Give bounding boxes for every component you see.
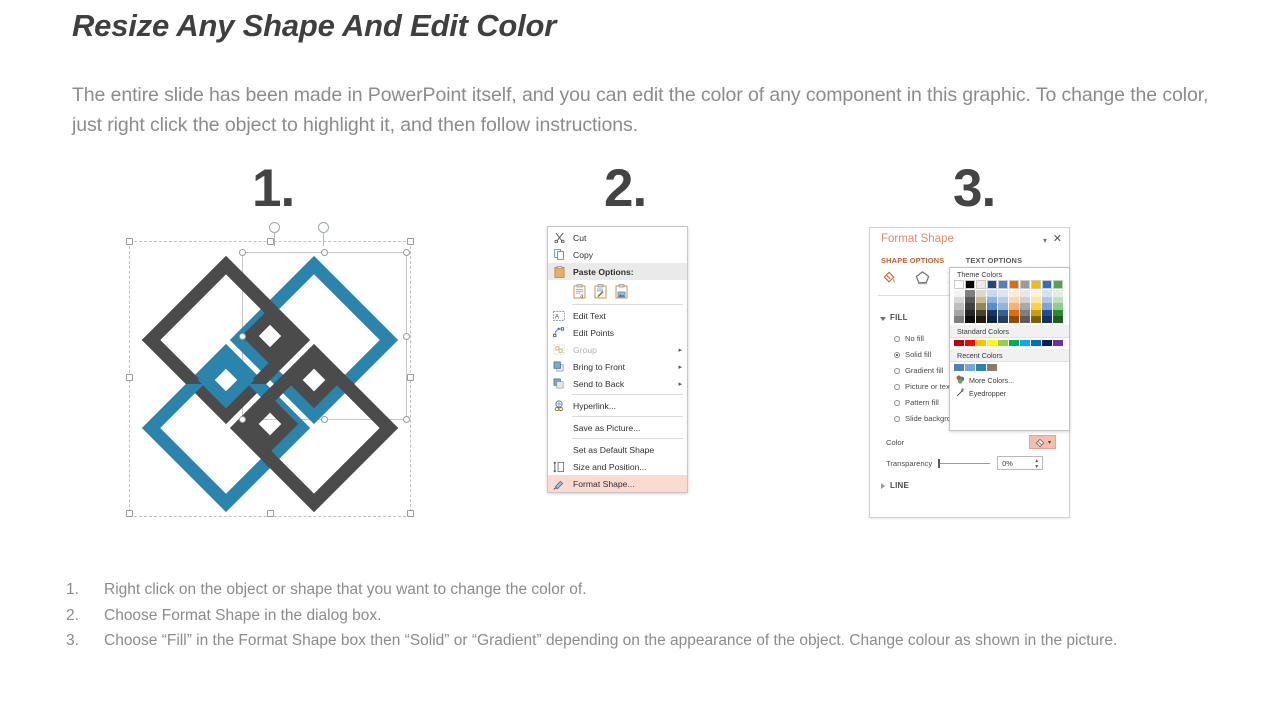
- menu-item-save-as-picture[interactable]: Save as Picture...: [548, 419, 687, 436]
- send-back-icon: [551, 377, 567, 390]
- color-swatch[interactable]: [954, 280, 964, 289]
- format-shape-icon: [551, 477, 567, 490]
- color-swatch[interactable]: [965, 316, 975, 323]
- standard-colors-row[interactable]: [950, 340, 1069, 347]
- instruction-item: 2. Choose Format Shape in the dialog box…: [66, 603, 1276, 629]
- menu-item-label: Bring to Front: [573, 362, 678, 372]
- color-swatch[interactable]: [965, 364, 975, 371]
- radio-gradient-fill[interactable]: Gradient fill: [894, 366, 943, 375]
- step-number-1: 1.: [252, 158, 294, 219]
- resize-handle-inner-tl[interactable]: [239, 249, 246, 256]
- bring-front-icon: [551, 360, 567, 373]
- menu-item-format-shape[interactable]: Format Shape...: [548, 475, 687, 492]
- instruction-text: Choose Format Shape in the dialog box.: [104, 603, 1276, 629]
- color-swatch[interactable]: [1042, 280, 1052, 289]
- resize-handle-inner-ml[interactable]: [239, 333, 246, 340]
- eyedropper-icon: [956, 388, 965, 399]
- svg-text:A: A: [555, 313, 560, 320]
- color-swatch[interactable]: [998, 280, 1008, 289]
- more-colors-label: More Colors...: [969, 376, 1014, 385]
- menu-item-hyperlink[interactable]: Hyperlink...: [548, 397, 687, 414]
- color-swatch[interactable]: [976, 280, 986, 289]
- radio-indicator: [894, 352, 900, 358]
- color-swatch[interactable]: [954, 364, 964, 371]
- color-swatch[interactable]: [1042, 316, 1052, 323]
- menu-separator: [572, 438, 683, 439]
- hyperlink-icon: [551, 399, 567, 412]
- color-swatch[interactable]: [1042, 340, 1052, 347]
- intro-paragraph: The entire slide has been made in PowerP…: [72, 80, 1217, 140]
- radio-label: Solid fill: [905, 350, 931, 359]
- resize-handle-outer-tc[interactable]: [267, 238, 274, 245]
- color-swatch[interactable]: [987, 316, 997, 323]
- copy-icon: [551, 248, 567, 261]
- instruction-item: 1. Right click on the object or shape th…: [66, 577, 1276, 603]
- rotation-handle-right[interactable]: [318, 222, 329, 233]
- menu-item-cut[interactable]: Cut: [548, 229, 687, 246]
- menu-separator: [572, 394, 683, 395]
- radio-label: Pattern fill: [905, 398, 939, 407]
- menu-item-label: Group: [573, 345, 678, 355]
- color-swatch[interactable]: [987, 280, 997, 289]
- dialog-tabs[interactable]: SHAPE OPTIONS TEXT OPTIONS: [881, 256, 1022, 265]
- rotation-stem-left: [274, 233, 275, 246]
- dialog-titlebar: Format Shape ▾ ✕: [870, 228, 1069, 254]
- menu-item-label: Format Shape...: [573, 479, 687, 489]
- color-swatch[interactable]: [1009, 340, 1019, 347]
- radio-indicator: [894, 336, 900, 342]
- radio-pattern-fill[interactable]: Pattern fill: [894, 398, 939, 407]
- menu-item-edit-points[interactable]: Edit Points: [548, 324, 687, 341]
- menu-item-label: Save as Picture...: [573, 423, 687, 433]
- resize-handle-inner-bc[interactable]: [321, 416, 328, 423]
- resize-handle-inner-bl[interactable]: [239, 416, 246, 423]
- resize-handle-outer-bl[interactable]: [126, 510, 133, 517]
- theme-colors-top-row[interactable]: [950, 280, 1069, 289]
- color-swatch[interactable]: [998, 340, 1008, 347]
- more-colors-icon: [956, 375, 965, 386]
- resize-handle-outer-br[interactable]: [407, 510, 414, 517]
- svg-text:a: a: [580, 293, 583, 299]
- menu-item-group[interactable]: Group ▸: [548, 341, 687, 358]
- context-menu[interactable]: Cut Copy Paste Options: a A Edit Text: [547, 226, 688, 493]
- more-colors-item[interactable]: More Colors...: [950, 374, 1069, 387]
- standard-colors-heading: Standard Colors: [950, 325, 1069, 338]
- radio-label: No fill: [905, 334, 924, 343]
- page-title: Resize Any Shape And Edit Color: [72, 8, 556, 44]
- paint-bucket-icon: [1034, 437, 1046, 448]
- color-row[interactable]: Color ▾: [886, 435, 1056, 449]
- color-dropdown-button[interactable]: ▾: [1029, 435, 1056, 449]
- tab-text-options[interactable]: TEXT OPTIONS: [966, 256, 1023, 265]
- fill-bucket-icon[interactable]: [881, 270, 898, 288]
- size-position-icon: [551, 460, 567, 473]
- color-swatch[interactable]: [976, 316, 986, 323]
- close-icon[interactable]: ✕: [1053, 232, 1062, 245]
- menu-item-edit-text[interactable]: A Edit Text: [548, 307, 687, 324]
- paste-picture-icon[interactable]: [615, 284, 628, 299]
- theme-tint-row[interactable]: [950, 316, 1069, 323]
- menu-item-copy[interactable]: Copy: [548, 246, 687, 263]
- color-swatch[interactable]: [1009, 316, 1019, 323]
- paste-icon: [551, 265, 567, 278]
- color-picker-flyout[interactable]: Theme Colors Standard Colors Recent Colo…: [949, 267, 1070, 431]
- color-swatch[interactable]: [998, 316, 1008, 323]
- menu-item-label: Size and Position...: [573, 462, 687, 472]
- resize-handle-outer-tr[interactable]: [407, 238, 414, 245]
- color-label: Color: [886, 438, 904, 447]
- color-swatch[interactable]: [954, 316, 964, 323]
- paste-keep-source-icon[interactable]: a: [573, 284, 586, 299]
- interlocking-diamonds-icon: [126, 238, 414, 520]
- menu-item-label: Set as Default Shape: [573, 445, 687, 455]
- color-swatch[interactable]: [954, 340, 964, 347]
- effects-pentagon-icon[interactable]: [914, 270, 931, 288]
- recent-colors-heading: Recent Colors: [950, 349, 1069, 362]
- radio-indicator: [894, 416, 900, 422]
- instruction-text: Choose “Fill” in the Format Shape box th…: [104, 628, 1276, 654]
- tab-shape-options[interactable]: SHAPE OPTIONS: [881, 256, 944, 265]
- transparency-value: 0%: [1002, 459, 1013, 468]
- shape-graphic-panel[interactable]: [126, 238, 414, 520]
- instruction-number: 3.: [66, 628, 104, 654]
- menu-item-send-to-back[interactable]: Send to Back ▸: [548, 375, 687, 392]
- color-swatch[interactable]: [1020, 280, 1030, 289]
- menu-item-label: Cut: [573, 233, 687, 243]
- chevron-right-icon: ▸: [678, 346, 682, 354]
- color-swatch[interactable]: [1053, 340, 1063, 347]
- color-swatch[interactable]: [976, 340, 986, 347]
- edit-text-icon: A: [551, 309, 567, 322]
- chevron-down-icon[interactable]: ▾: [1043, 236, 1047, 245]
- color-swatch[interactable]: [1020, 316, 1030, 323]
- color-swatch[interactable]: [1031, 316, 1041, 323]
- line-section-title: LINE: [890, 481, 909, 490]
- spinner-icon[interactable]: ▲▼: [1034, 458, 1039, 470]
- menu-item-label: Edit Text: [573, 311, 687, 321]
- menu-item-bring-to-front[interactable]: Bring to Front ▸: [548, 358, 687, 375]
- radio-solid-fill[interactable]: Solid fill: [894, 350, 931, 359]
- instructions-list: 1. Right click on the object or shape th…: [66, 577, 1276, 654]
- resize-handle-inner-tc[interactable]: [321, 249, 328, 256]
- no-icon: [551, 443, 567, 456]
- color-swatch[interactable]: [965, 280, 975, 289]
- menu-item-set-default-shape[interactable]: Set as Default Shape: [548, 441, 687, 458]
- eyedropper-item[interactable]: Eyedropper: [950, 387, 1069, 400]
- no-icon: [551, 421, 567, 434]
- recent-colors-row[interactable]: [950, 364, 1069, 371]
- transparency-row[interactable]: Transparency 0% ▲▼: [886, 456, 1060, 470]
- fill-section-title: FILL: [890, 313, 908, 322]
- paste-options-row[interactable]: a: [548, 280, 687, 302]
- color-swatch[interactable]: [1053, 316, 1063, 323]
- menu-item-label: Edit Points: [573, 328, 687, 338]
- rotation-handle-left[interactable]: [269, 222, 280, 233]
- chevron-down-icon[interactable]: ▾: [1048, 439, 1051, 446]
- paste-theme-icon[interactable]: [594, 284, 607, 299]
- rotation-stem-right: [323, 233, 324, 246]
- theme-colors-heading: Theme Colors: [950, 268, 1069, 280]
- resize-handle-inner-mr[interactable]: [403, 333, 410, 340]
- radio-label: Gradient fill: [905, 366, 943, 375]
- transparency-slider[interactable]: [938, 463, 990, 464]
- menu-item-label: Paste Options:: [573, 267, 687, 277]
- edit-points-icon: [551, 326, 567, 339]
- resize-handle-outer-ml[interactable]: [126, 374, 133, 381]
- radio-indicator: [894, 384, 900, 390]
- color-swatch[interactable]: [1053, 280, 1063, 289]
- menu-item-label: Hyperlink...: [573, 401, 687, 411]
- resize-handle-outer-bc[interactable]: [267, 510, 274, 517]
- chevron-right-icon: ▸: [678, 363, 682, 371]
- color-swatch[interactable]: [1020, 340, 1030, 347]
- step-number-3: 3.: [953, 158, 995, 219]
- instruction-number: 2.: [66, 603, 104, 629]
- color-swatch[interactable]: [1031, 280, 1041, 289]
- line-expand-triangle-icon[interactable]: [881, 483, 885, 489]
- fill-expand-triangle-icon[interactable]: [880, 317, 886, 321]
- resize-handle-inner-tr[interactable]: [403, 249, 410, 256]
- instruction-number: 1.: [66, 577, 104, 603]
- menu-item-label: Send to Back: [573, 379, 678, 389]
- resize-handle-inner-br[interactable]: [403, 416, 410, 423]
- menu-separator: [572, 304, 683, 305]
- instruction-text: Right click on the object or shape that …: [104, 577, 1276, 603]
- scissors-icon: [551, 231, 567, 244]
- transparency-input[interactable]: 0% ▲▼: [997, 456, 1043, 470]
- eyedropper-label: Eyedropper: [969, 389, 1006, 398]
- color-swatch[interactable]: [1009, 280, 1019, 289]
- radio-indicator: [894, 368, 900, 374]
- radio-no-fill[interactable]: No fill: [894, 334, 924, 343]
- chevron-right-icon: ▸: [678, 380, 682, 388]
- color-swatch[interactable]: [965, 340, 975, 347]
- color-swatch[interactable]: [987, 340, 997, 347]
- instruction-item: 3. Choose “Fill” in the Format Shape box…: [66, 628, 1276, 654]
- dialog-title: Format Shape: [881, 233, 954, 245]
- group-icon: [551, 343, 567, 356]
- menu-separator: [572, 416, 683, 417]
- radio-indicator: [894, 400, 900, 406]
- menu-item-size-and-position[interactable]: Size and Position...: [548, 458, 687, 475]
- slider-knob[interactable]: [938, 459, 940, 468]
- color-swatch[interactable]: [1031, 340, 1041, 347]
- step-number-2: 2.: [604, 158, 646, 219]
- transparency-label: Transparency: [886, 459, 932, 468]
- menu-item-label: Copy: [573, 250, 687, 260]
- color-swatch[interactable]: [987, 364, 997, 371]
- resize-handle-outer-tl[interactable]: [126, 238, 133, 245]
- theme-colors-tint-rows[interactable]: [950, 290, 1069, 323]
- resize-handle-outer-mr[interactable]: [407, 374, 414, 381]
- color-swatch[interactable]: [976, 364, 986, 371]
- menu-item-paste-options[interactable]: Paste Options:: [548, 263, 687, 280]
